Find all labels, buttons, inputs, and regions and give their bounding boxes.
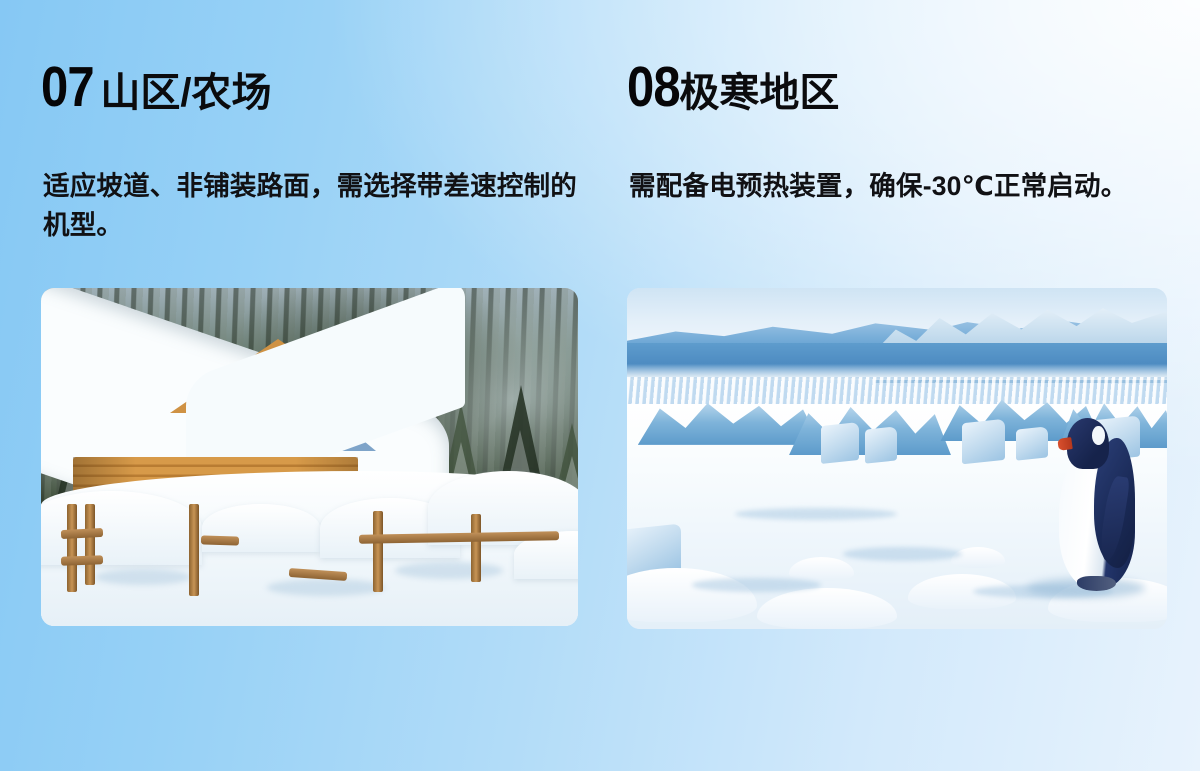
snow-dune bbox=[951, 547, 1005, 567]
snow-shadow bbox=[692, 578, 822, 592]
snow-shadow bbox=[843, 547, 962, 561]
ice-shelf bbox=[627, 343, 1167, 381]
snow-shadow bbox=[267, 579, 385, 596]
fence-rail bbox=[61, 555, 103, 565]
ice-block bbox=[962, 419, 1005, 464]
section-heading-08: 08 极寒地区 bbox=[627, 59, 839, 116]
penguin-cheek-patch bbox=[1092, 426, 1105, 445]
section-description-07: 适应坡道、非铺装路面，需选择带差速控制的机型。 bbox=[43, 167, 588, 244]
penguin-icon bbox=[1059, 418, 1135, 589]
snow-dune bbox=[789, 557, 854, 581]
penguin-head bbox=[1067, 418, 1109, 469]
fence-post bbox=[85, 504, 95, 585]
penguin-beak bbox=[1057, 437, 1072, 451]
fence-rail bbox=[201, 535, 239, 545]
snow-shadow bbox=[735, 508, 897, 520]
ice-block bbox=[821, 422, 859, 463]
antarctic-illustration bbox=[627, 288, 1167, 629]
section-number-08: 08 bbox=[627, 59, 680, 116]
fence-post bbox=[67, 504, 77, 592]
fence-post bbox=[189, 504, 199, 595]
section-number-07: 07 bbox=[41, 59, 94, 116]
ice-block bbox=[1016, 426, 1048, 460]
infographic-page: 07 山区/农场 适应坡道、非铺装路面，需选择带差速控制的机型。 bbox=[0, 0, 1200, 777]
section-photo-08 bbox=[627, 288, 1167, 629]
fence-post bbox=[373, 511, 383, 592]
fence-post bbox=[471, 514, 481, 582]
snow-shadow bbox=[395, 562, 502, 579]
ice-block bbox=[865, 426, 897, 463]
ice-sparkle-band bbox=[627, 377, 1167, 408]
section-photo-07 bbox=[41, 288, 578, 626]
snow-cabin-illustration bbox=[41, 288, 578, 626]
section-description-08: 需配备电预热装置，确保-30℃正常启动。 bbox=[629, 167, 1177, 206]
section-title-08: 极寒地区 bbox=[679, 73, 839, 113]
section-title-07: 山区/农场 bbox=[100, 73, 271, 113]
section-heading-07: 07 山区/农场 bbox=[41, 59, 272, 116]
two-column-layout: 07 山区/农场 适应坡道、非铺装路面，需选择带差速控制的机型。 bbox=[0, 0, 1200, 777]
